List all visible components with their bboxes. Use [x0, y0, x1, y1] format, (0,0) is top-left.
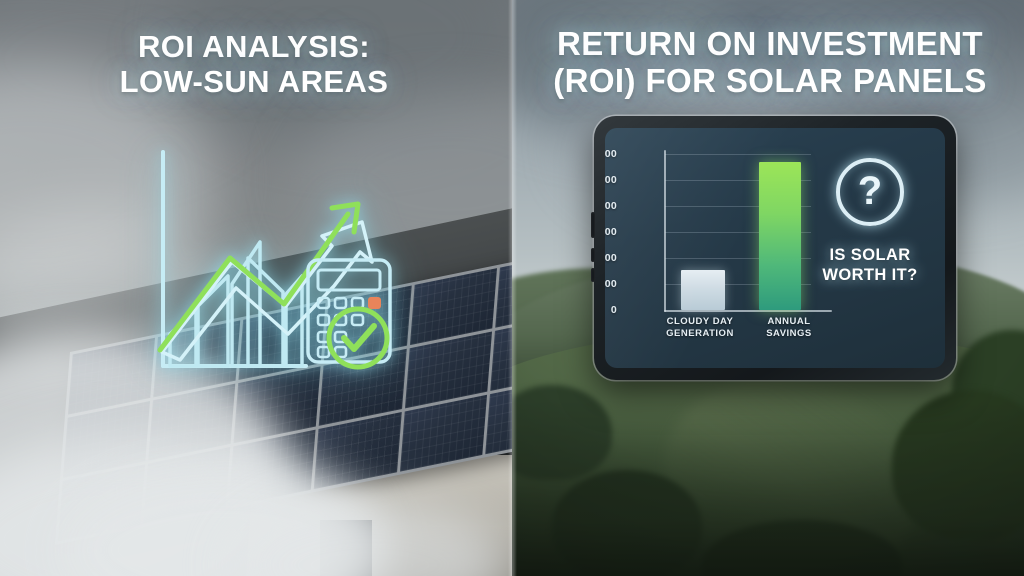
- x-tick-label-cloudy-day-generation: CLOUDY DAY GENERATION: [655, 316, 745, 340]
- chart-x-axis: [664, 310, 832, 312]
- y-tick-label: 100: [605, 278, 617, 290]
- question-mark-circle-icon: ?: [836, 158, 904, 226]
- tablet-volume-up-button[interactable]: [591, 248, 595, 262]
- calculator-display: [318, 270, 380, 290]
- y-tick-label: 0: [605, 304, 617, 316]
- question-text: IS SOLAR WORTH IT?: [809, 246, 931, 286]
- green-check-circle-icon: [329, 309, 387, 367]
- bar-annual-savings: [759, 162, 801, 310]
- roi-bar-chart: 600 500 400 300 200 100 0 CLOUDY DAY GEN…: [621, 154, 811, 336]
- y-tick-label: 400: [605, 200, 617, 212]
- roi-growth-infographic: [136, 134, 410, 374]
- bar-cloudy-day-generation: [681, 270, 725, 310]
- tablet-screen: 600 500 400 300 200 100 0 CLOUDY DAY GEN…: [605, 128, 945, 368]
- valley-shadow: [512, 400, 1024, 576]
- y-tick-label: 300: [605, 226, 617, 238]
- question-block: ? IS SOLAR WORTH IT?: [809, 158, 931, 286]
- x-tick-label-annual-savings: ANNUAL SAVINGS: [749, 316, 829, 340]
- tablet-device[interactable]: 600 500 400 300 200 100 0 CLOUDY DAY GEN…: [594, 116, 956, 380]
- y-tick-label: 500: [605, 174, 617, 186]
- y-tick-label: 200: [605, 252, 617, 264]
- tablet-volume-down-button[interactable]: [591, 268, 595, 282]
- roi-solar-split-graphic: ROI ANALYSIS: LOW-SUN AREAS RETURN ON IN…: [0, 0, 1024, 576]
- tablet-power-button[interactable]: [591, 212, 595, 238]
- left-panel-title: ROI ANALYSIS: LOW-SUN AREAS: [44, 30, 464, 99]
- y-tick-label: 600: [605, 148, 617, 160]
- right-panel-title: RETURN ON INVESTMENT (ROI) FOR SOLAR PAN…: [524, 26, 1016, 100]
- calculator-accent-key: [368, 297, 381, 309]
- chart-y-axis: [664, 150, 666, 312]
- question-mark-glyph: ?: [858, 171, 882, 211]
